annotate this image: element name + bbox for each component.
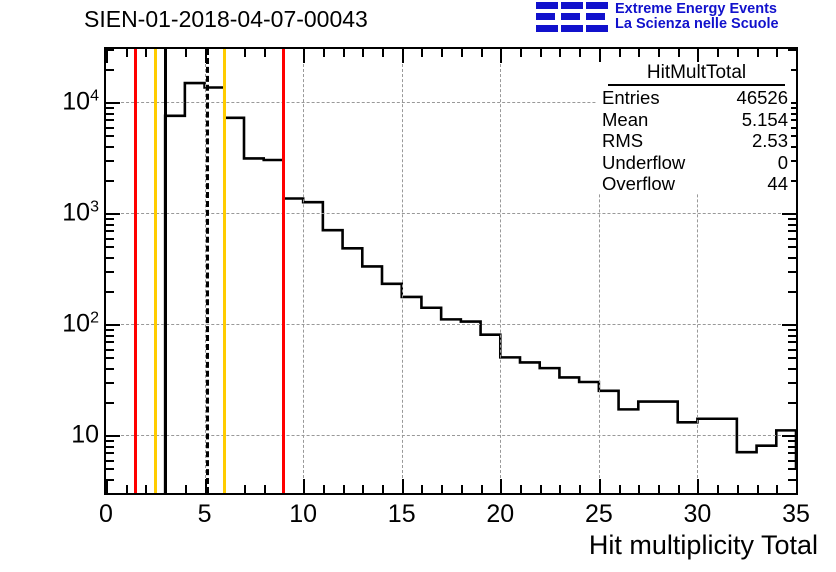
axis-tick: [402, 479, 404, 493]
axis-tick: [788, 446, 796, 448]
axis-tick: [106, 382, 114, 384]
axis-tick: [106, 135, 114, 137]
axis-tick: [106, 213, 120, 215]
axis-tick: [303, 479, 305, 493]
axis-tick: [678, 485, 680, 493]
stats-row-label: RMS: [602, 130, 643, 151]
axis-tick: [717, 485, 719, 493]
axis-tick: [106, 218, 114, 220]
axis-tick: [559, 49, 561, 57]
stats-row-value: 44: [767, 173, 788, 194]
axis-tick: [145, 49, 147, 57]
axis-tick: [106, 435, 120, 437]
axis-tick: [106, 246, 114, 248]
axis-tick: [658, 485, 660, 493]
axis-tick: [776, 49, 778, 57]
axis-tick: [638, 49, 640, 57]
axis-tick: [461, 485, 463, 493]
axis-tick: [106, 257, 114, 259]
marker-line-black-low: [164, 49, 167, 493]
axis-tick: [362, 485, 364, 493]
axis-tick: [402, 49, 404, 63]
axis-tick: [106, 329, 114, 331]
axis-tick: [737, 485, 739, 493]
axis-tick: [788, 230, 796, 232]
axis-tick: [106, 341, 114, 343]
axis-tick: [461, 49, 463, 57]
axis-tick: [481, 485, 483, 493]
axis-tick: [106, 402, 114, 404]
axis-tick: [697, 479, 699, 493]
x-tick-label: 20: [486, 500, 514, 529]
axis-tick: [757, 49, 759, 57]
x-tick-label: 0: [99, 500, 113, 529]
axis-tick: [788, 271, 796, 273]
gridline-vertical: [500, 49, 501, 493]
stats-row-label: Mean: [602, 109, 648, 130]
axis-tick: [303, 49, 305, 63]
x-tick-label: 30: [684, 500, 712, 529]
marker-line-orange-low: [154, 49, 157, 493]
axis-tick: [788, 357, 796, 359]
axis-tick: [106, 49, 114, 51]
axis-tick: [788, 402, 796, 404]
x-tick-label: 5: [198, 500, 212, 529]
axis-tick: [145, 485, 147, 493]
axis-tick: [500, 49, 502, 63]
axis-tick: [782, 213, 796, 215]
axis-tick: [788, 246, 796, 248]
axis-tick: [788, 329, 796, 331]
logo-letter-e-icon: [586, 2, 608, 32]
axis-tick: [106, 49, 108, 63]
axis-tick: [421, 49, 423, 57]
axis-tick: [788, 479, 796, 481]
stats-row-label: Entries: [602, 87, 660, 108]
axis-tick: [788, 335, 796, 337]
axis-tick: [788, 382, 796, 384]
axis-tick: [106, 446, 114, 448]
y-tick-label: 10: [71, 420, 99, 449]
axis-tick: [788, 238, 796, 240]
axis-tick: [106, 335, 114, 337]
axis-tick: [244, 49, 246, 57]
axis-tick: [559, 485, 561, 493]
axis-tick: [788, 49, 796, 51]
axis-tick: [788, 440, 796, 442]
gridline-vertical: [402, 49, 403, 493]
axis-tick: [421, 485, 423, 493]
axis-tick: [382, 485, 384, 493]
axis-tick: [126, 49, 128, 57]
gridline-vertical: [303, 49, 304, 493]
axis-tick: [788, 468, 796, 470]
axis-tick: [106, 107, 114, 109]
x-tick-label: 35: [782, 500, 810, 529]
axis-tick: [788, 291, 796, 293]
axis-tick: [500, 479, 502, 493]
axis-tick: [106, 324, 120, 326]
axis-tick: [737, 49, 739, 57]
eee-logo-mark: [536, 2, 608, 32]
axis-tick: [106, 119, 114, 121]
axis-tick: [185, 49, 187, 57]
axis-tick: [264, 485, 266, 493]
axis-tick: [106, 440, 114, 442]
axis-tick: [619, 49, 621, 57]
stats-row: Overflow44: [596, 173, 791, 194]
logo-letter-e-icon: [536, 2, 558, 32]
axis-tick: [579, 49, 581, 57]
axis-tick: [441, 49, 443, 57]
axis-tick: [619, 485, 621, 493]
axis-tick: [540, 485, 542, 493]
gridline-horizontal: [106, 213, 796, 214]
axis-tick: [788, 341, 796, 343]
axis-tick: [126, 485, 128, 493]
stats-box: HitMultTotal Entries46526Mean5.154RMS2.5…: [596, 62, 791, 194]
stats-row-value: 2.53: [752, 130, 788, 151]
stats-row: Mean5.154: [596, 109, 791, 130]
axis-tick: [106, 460, 114, 462]
axis-tick: [106, 452, 114, 454]
axis-tick: [678, 49, 680, 57]
stats-row-value: 46526: [737, 87, 788, 108]
axis-tick: [599, 479, 601, 493]
axis-tick: [441, 485, 443, 493]
axis-tick: [520, 485, 522, 493]
axis-tick: [788, 224, 796, 226]
axis-tick: [788, 452, 796, 454]
axis-tick: [343, 49, 345, 57]
axis-tick: [106, 146, 114, 148]
logo-letter-e-icon: [561, 2, 583, 32]
axis-tick: [788, 349, 796, 351]
axis-tick: [106, 180, 114, 182]
stats-row-value: 5.154: [742, 109, 788, 130]
gridline-horizontal: [106, 324, 796, 325]
axis-tick: [106, 127, 114, 129]
axis-tick: [106, 479, 114, 481]
axis-tick: [264, 49, 266, 57]
axis-tick: [788, 218, 796, 220]
axis-tick: [782, 324, 796, 326]
y-axis-labels: 10102103104: [0, 0, 99, 572]
gridline-horizontal: [106, 435, 796, 436]
page-title: SIEN-01-2018-04-07-00043: [84, 6, 368, 33]
eee-logo: Extreme Energy Events La Scienza nelle S…: [536, 2, 779, 32]
axis-tick: [788, 460, 796, 462]
axis-tick: [658, 49, 660, 57]
marker-line-red-high: [282, 49, 285, 493]
stats-row-label: Underflow: [602, 152, 685, 173]
axis-tick: [106, 230, 114, 232]
x-tick-label: 25: [585, 500, 613, 529]
x-tick-label: 10: [289, 500, 317, 529]
logo-line-1: Extreme Energy Events: [615, 2, 779, 17]
axis-tick: [106, 271, 114, 273]
axis-tick: [106, 357, 114, 359]
stats-row-label: Overflow: [602, 173, 675, 194]
axis-tick: [323, 485, 325, 493]
axis-tick: [106, 69, 114, 71]
axis-tick: [106, 224, 114, 226]
axis-tick: [776, 485, 778, 493]
axis-tick: [520, 49, 522, 57]
marker-line-orange-high: [223, 49, 226, 493]
stats-row: Underflow0: [596, 152, 791, 173]
stats-title: HitMultTotal: [608, 62, 785, 86]
axis-tick: [540, 49, 542, 57]
axis-tick: [782, 435, 796, 437]
axis-tick: [579, 485, 581, 493]
axis-tick: [788, 368, 796, 370]
axis-tick: [599, 49, 601, 63]
axis-tick: [323, 49, 325, 57]
stats-row: Entries46526: [596, 87, 791, 108]
axis-tick: [757, 485, 759, 493]
logo-line-2: La Scienza nelle Scuole: [615, 17, 779, 32]
y-tick-label: 103: [62, 198, 99, 227]
axis-tick: [638, 485, 640, 493]
axis-tick: [343, 485, 345, 493]
axis-tick: [106, 349, 114, 351]
y-tick-label: 104: [62, 87, 99, 116]
axis-tick: [106, 468, 114, 470]
axis-tick: [244, 485, 246, 493]
axis-tick: [106, 291, 114, 293]
axis-tick: [106, 238, 114, 240]
axis-tick: [788, 257, 796, 259]
axis-tick: [697, 49, 699, 63]
axis-tick: [106, 113, 114, 115]
axis-tick: [382, 49, 384, 57]
stats-row: RMS2.53: [596, 130, 791, 151]
y-tick-label: 102: [62, 309, 99, 338]
axis-tick: [362, 49, 364, 57]
axis-tick: [106, 102, 120, 104]
axis-tick: [717, 49, 719, 57]
x-tick-label: 15: [388, 500, 416, 529]
axis-tick: [106, 160, 114, 162]
axis-tick: [106, 368, 114, 370]
stats-row-value: 0: [778, 152, 788, 173]
marker-line-red-low: [134, 49, 137, 493]
x-axis-title: Hit multiplicity Total: [589, 530, 836, 561]
axis-tick: [481, 49, 483, 57]
marker-line-black-mean: [206, 49, 209, 493]
axis-tick: [185, 485, 187, 493]
